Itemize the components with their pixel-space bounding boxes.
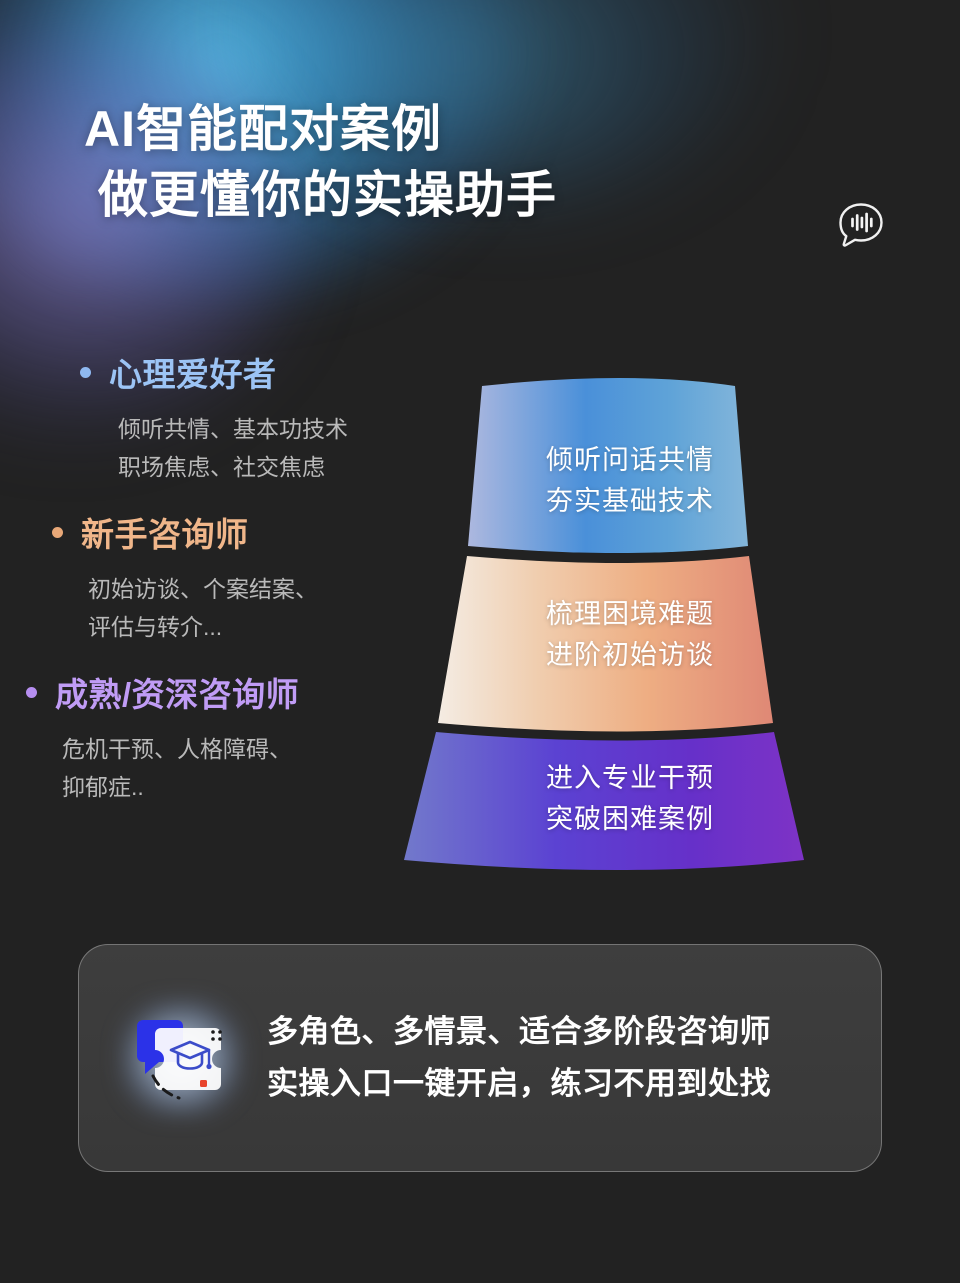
title-line-2: 做更懂你的实操助手 xyxy=(98,162,884,228)
title-line-1: AI智能配对案例 xyxy=(84,96,884,162)
pyramid-tier-bottom-shape xyxy=(404,732,804,870)
graduation-ticket-icon xyxy=(117,994,245,1122)
feature-text-line-1: 多角色、多情景、适合多阶段咨询师 xyxy=(267,1006,771,1058)
promo-poster: AI智能配对案例 做更懂你的实操助手 心理爱好者 倾听共情、基本功技术 职场焦虑… xyxy=(0,0,960,1283)
bullet-dot-icon xyxy=(80,367,91,378)
feature-card-text: 多角色、多情景、适合多阶段咨询师 实操入口一键开启，练习不用到处找 xyxy=(267,1006,771,1110)
role-title: 新手咨询师 xyxy=(81,508,249,556)
pyramid-diagram: 倾听问话共情 夯实基础技术 梳理困境难题 进阶初始访谈 进入专业干预 突破困难案… xyxy=(350,368,910,878)
role-title: 心理爱好者 xyxy=(109,348,277,396)
voice-chat-bubble-icon xyxy=(832,196,890,254)
pyramid-tier-top-shape xyxy=(468,378,748,553)
header: AI智能配对案例 做更懂你的实操助手 xyxy=(84,96,884,228)
pyramid-tier-middle-shape xyxy=(438,556,773,732)
role-title: 成熟/资深咨询师 xyxy=(55,668,299,716)
bullet-dot-icon xyxy=(26,687,37,698)
bullet-dot-icon xyxy=(52,527,63,538)
feature-card: 多角色、多情景、适合多阶段咨询师 实操入口一键开启，练习不用到处找 xyxy=(78,944,882,1172)
feature-text-line-2: 实操入口一键开启，练习不用到处找 xyxy=(267,1058,771,1110)
